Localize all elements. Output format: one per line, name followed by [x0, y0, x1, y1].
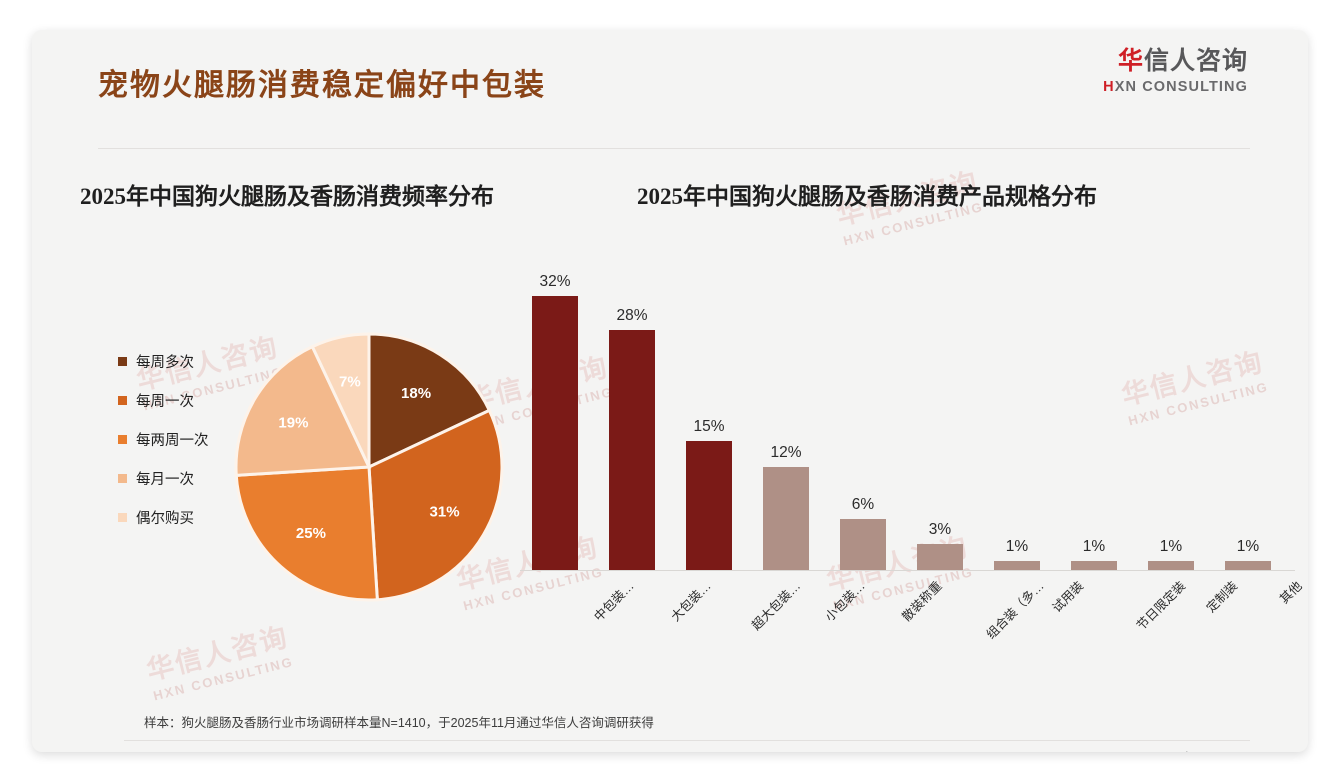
- bar-value-label: 28%: [609, 307, 655, 325]
- bar-chart-axis-line: [520, 570, 1295, 571]
- pie-slice-value-label: 18%: [401, 385, 431, 402]
- bar-rect[interactable]: [840, 519, 886, 570]
- pie-slice-value-label: 31%: [430, 504, 460, 521]
- bar-column[interactable]: 3%: [917, 521, 963, 570]
- bar-rect[interactable]: [532, 296, 578, 570]
- bar-column[interactable]: 1%: [994, 538, 1040, 570]
- legend-swatch-icon: [118, 357, 127, 366]
- bar-rect[interactable]: [1071, 561, 1117, 570]
- bar-column[interactable]: 32%: [532, 273, 578, 570]
- slide-footer: ©2026.1 HXR华信人咨询 www.hxrcon.com: [32, 746, 1308, 752]
- bar-category-label: 超大包装…: [746, 576, 804, 634]
- bar-value-label: 1%: [994, 538, 1040, 556]
- bar-value-label: 6%: [840, 496, 886, 514]
- logo-english-text: HXN CONSULTING: [1103, 79, 1248, 95]
- bar-category-label: 其他: [1274, 576, 1305, 607]
- logo-cn-rest: 信人咨询: [1144, 47, 1248, 75]
- bar-category-label: 散装称重: [897, 576, 946, 625]
- bar-rect[interactable]: [917, 544, 963, 570]
- bar-column[interactable]: 6%: [840, 496, 886, 570]
- source-footnote: 样本：狗火腿肠及香肠行业市场调研样本量N=1410，于2025年11月通过华信人…: [144, 712, 654, 731]
- bar-value-label: 1%: [1148, 538, 1194, 556]
- bar-category-label: 试用装: [1047, 576, 1087, 616]
- pie-chart-title: 2025年中国狗火腿肠及香肠消费频率分布: [80, 177, 494, 211]
- footer-copyright: ©2026.1 HXR华信人咨询: [124, 750, 264, 752]
- bar-rect[interactable]: [686, 441, 732, 570]
- bar-value-label: 32%: [532, 273, 578, 291]
- bar-chart-plot-area: 32%28%15%12%6%3%1%1%1%1%: [520, 270, 1290, 570]
- footer-divider: [124, 740, 1250, 741]
- pie-slice-value-label: 25%: [296, 525, 326, 542]
- pie-slice-value-label: 19%: [278, 414, 308, 431]
- slide-header: 宠物火腿肠消费稳定偏好中包装 华信人咨询 HXN CONSULTING: [32, 30, 1308, 128]
- bar-category-label: 节日限定装: [1131, 576, 1189, 634]
- bar-column[interactable]: 28%: [609, 307, 655, 570]
- legend-item-label: 每周一次: [136, 390, 194, 411]
- bar-category-label: 大包装…: [666, 576, 715, 625]
- legend-swatch-icon: [118, 513, 127, 522]
- bar-rect[interactable]: [994, 561, 1040, 570]
- page-title: 宠物火腿肠消费稳定偏好中包装: [98, 60, 546, 104]
- header-divider: [98, 148, 1250, 149]
- legend-swatch-icon: [118, 435, 127, 444]
- pie-slice-value-label: 7%: [339, 373, 361, 390]
- bar-value-label: 1%: [1225, 538, 1271, 556]
- bar-rect[interactable]: [1148, 561, 1194, 570]
- logo-en-accent-char: H: [1103, 79, 1115, 95]
- legend-item-label: 每月一次: [136, 468, 194, 489]
- bar-value-label: 12%: [763, 444, 809, 462]
- bar-column[interactable]: 1%: [1148, 538, 1194, 570]
- bar-rect[interactable]: [1225, 561, 1271, 570]
- bar-chart-title: 2025年中国狗火腿肠及香肠消费产品规格分布: [637, 177, 1097, 211]
- legend-item-label: 每两周一次: [136, 429, 209, 450]
- slide-card: 华信人咨询 HXN CONSULTING 华信人咨询 HXN CONSULTIN…: [32, 30, 1308, 752]
- bar-category-label: 小包装…: [820, 576, 869, 625]
- pie-svg: 18%31%25%19%7%: [234, 332, 504, 602]
- bar-rect[interactable]: [609, 330, 655, 570]
- bar-value-label: 3%: [917, 521, 963, 539]
- bar-chart-panel: 32%28%15%12%6%3%1%1%1%1% 中包装…大包装…超大包装…小包…: [502, 230, 1302, 660]
- bar-rect[interactable]: [763, 467, 809, 570]
- bar-value-label: 1%: [1071, 538, 1117, 556]
- footer-website[interactable]: www.hxrcon.com: [1156, 750, 1250, 752]
- bar-column[interactable]: 12%: [763, 444, 809, 570]
- logo-chinese-text: 华信人咨询: [1103, 48, 1248, 76]
- legend-item-label: 偶尔购买: [136, 507, 194, 528]
- logo-en-rest: XN CONSULTING: [1115, 79, 1248, 95]
- bar-category-label: 中包装…: [589, 576, 638, 625]
- bar-column[interactable]: 1%: [1225, 538, 1271, 570]
- bar-column[interactable]: 1%: [1071, 538, 1117, 570]
- logo-cn-accent-char: 华: [1118, 47, 1144, 75]
- brand-logo: 华信人咨询 HXN CONSULTING: [1103, 48, 1248, 95]
- pie-chart-graphic: 18%31%25%19%7%: [234, 332, 504, 602]
- bar-category-label: 组合装（多…: [981, 576, 1047, 642]
- watermark-en: HXN CONSULTING: [152, 654, 296, 704]
- bar-value-label: 15%: [686, 418, 732, 436]
- bar-column[interactable]: 15%: [686, 418, 732, 570]
- legend-item-label: 每周多次: [136, 351, 194, 372]
- bar-category-label: 定制装: [1201, 576, 1241, 616]
- legend-swatch-icon: [118, 396, 127, 405]
- legend-swatch-icon: [118, 474, 127, 483]
